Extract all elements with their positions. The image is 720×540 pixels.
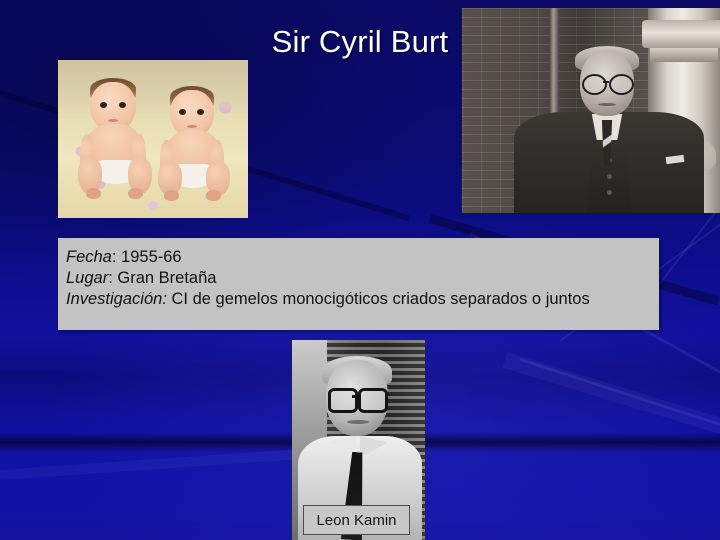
- burt-eyeglass-bridge: [603, 81, 609, 83]
- baby-right-eye-left: [179, 109, 186, 115]
- burt-eyeglass-right: [609, 74, 634, 95]
- burt-eyeglass-left: [582, 74, 607, 95]
- info-line-investigacion: Investigación: CI de gemelos monocigótic…: [66, 289, 659, 310]
- cyril-burt-portrait-photo: [462, 8, 720, 213]
- kamin-mouth: [347, 420, 369, 424]
- baby-right-foot-left: [164, 190, 179, 201]
- presentation-slide: Sir Cyril Burt: [0, 0, 720, 540]
- burt-waistcoat-button-2: [607, 174, 612, 179]
- baby-left-foot-right: [128, 188, 143, 199]
- info-line-fecha: Fecha: 1955-66: [66, 247, 659, 268]
- research-info-box: Fecha: 1955-66 Lugar: Gran Bretaña Inves…: [58, 238, 659, 330]
- kamin-eyeglass-right: [358, 388, 388, 413]
- info-line-lugar: Lugar: Gran Bretaña: [66, 268, 659, 289]
- info-label-lugar: Lugar: [66, 269, 108, 287]
- kamin-caption-label: Leon Kamin: [303, 505, 410, 535]
- info-value-investigacion: CI de gemelos monocigóticos criados sepa…: [167, 290, 590, 308]
- twin-babies-photo: [58, 60, 248, 218]
- kamin-eyeglass-left: [328, 388, 358, 413]
- baby-right-mouth: [187, 125, 197, 128]
- info-label-investigacion: Investigación: [66, 290, 162, 308]
- burt-mouth: [598, 103, 616, 106]
- baby-left-mouth: [108, 119, 118, 122]
- baby-right-eye-right: [197, 109, 204, 115]
- info-value-fecha: 1955-66: [116, 248, 181, 266]
- column-capital: [642, 20, 720, 48]
- info-value-lugar: Gran Bretaña: [113, 269, 217, 287]
- baby-left-foot-left: [86, 188, 101, 199]
- baby-right-foot-right: [206, 190, 221, 201]
- column-capital-band: [650, 48, 718, 62]
- kamin-eyeglass-bridge: [352, 395, 358, 398]
- info-label-fecha: Fecha: [66, 248, 112, 266]
- baby-left-eye-left: [100, 102, 107, 108]
- burt-waistcoat-button-3: [607, 190, 612, 195]
- baby-left-eye-right: [119, 102, 126, 108]
- kamin-caption-text: Leon Kamin: [316, 512, 396, 529]
